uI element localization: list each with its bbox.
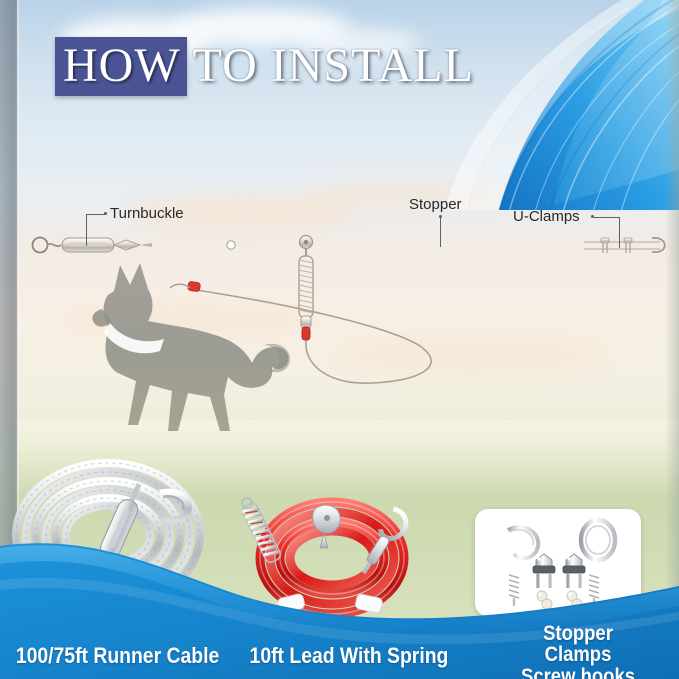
title-highlight: HOW	[55, 37, 187, 96]
product-lead-with-spring	[232, 492, 432, 624]
product-runner-cable	[8, 455, 223, 630]
leader-dot-u-clamps	[591, 215, 594, 218]
leader-line-turnbuckle	[86, 214, 106, 215]
leader-line-u-clamps-drop	[619, 217, 620, 248]
caption-hardware-line-2: Clamps	[490, 644, 666, 665]
caption-hardware-kit: Stopper Clamps Screw hooks	[490, 623, 666, 679]
screw-eye-hook-icon	[581, 520, 615, 607]
caption-hardware-line-1: Stopper	[490, 623, 666, 644]
leader-dot-turnbuckle	[104, 212, 107, 215]
caption-runner-cable: 100/75ft Runner Cable	[16, 643, 219, 669]
product-hardware-kit	[480, 512, 638, 614]
page-title: HOWTO INSTALL	[55, 42, 474, 90]
stopper-bead	[227, 241, 235, 249]
leader-line-u-clamps	[594, 217, 620, 218]
label-turnbuckle: Turnbuckle	[110, 205, 184, 222]
label-stopper: Stopper	[409, 196, 462, 213]
leader-line-turnbuckle-drop	[86, 214, 87, 246]
u-clamp-icon	[563, 554, 585, 588]
caption-hardware-line-3: Screw hooks	[490, 666, 666, 679]
dog-silhouette	[78, 255, 318, 460]
poster-infographic: HOWTO INSTALL	[0, 0, 679, 679]
leader-line-stopper	[440, 217, 441, 247]
title-rest: TO INSTALL	[193, 39, 474, 92]
label-u-clamps: U-Clamps	[513, 208, 580, 225]
u-clamp-icon	[533, 554, 555, 588]
caption-lead-with-spring: 10ft Lead With Spring	[250, 643, 449, 669]
leader-dot-stopper	[439, 215, 442, 218]
stopper-bead-icon	[537, 591, 582, 609]
